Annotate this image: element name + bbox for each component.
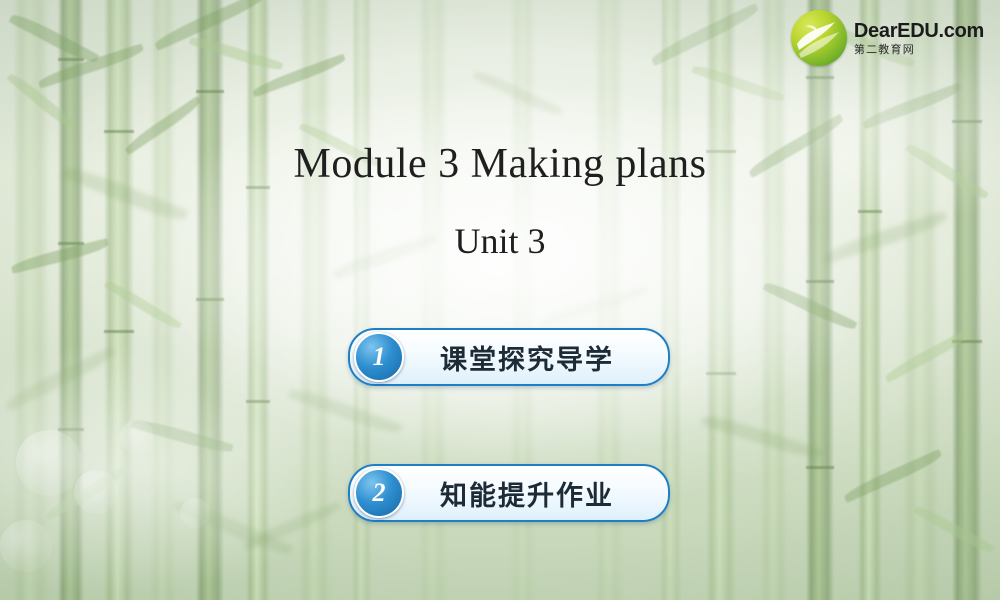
menu-item-2-label: 知能提升作业	[404, 474, 668, 513]
slide: DearEDU.com 第二教育网 Module 3 Making plans …	[0, 0, 1000, 600]
menu-item-1-number: 1	[354, 332, 404, 382]
slide-title: Module 3 Making plans	[0, 140, 1000, 188]
menu-item-2-number: 2	[354, 468, 404, 518]
slide-subtitle: Unit 3	[0, 220, 1000, 262]
logo-subtitle: 第二教育网	[854, 45, 984, 56]
menu-item-1[interactable]: 1 课堂探究导学	[348, 328, 670, 386]
logo-title: DearEDU.com	[854, 21, 984, 41]
menu-item-1-label: 课堂探究导学	[404, 338, 668, 377]
dearedu-logo-text: DearEDU.com 第二教育网	[854, 21, 984, 56]
menu-item-2[interactable]: 2 知能提升作业	[348, 464, 670, 522]
dearedu-logo: DearEDU.com 第二教育网	[791, 10, 984, 66]
dearedu-logo-icon	[791, 10, 847, 66]
